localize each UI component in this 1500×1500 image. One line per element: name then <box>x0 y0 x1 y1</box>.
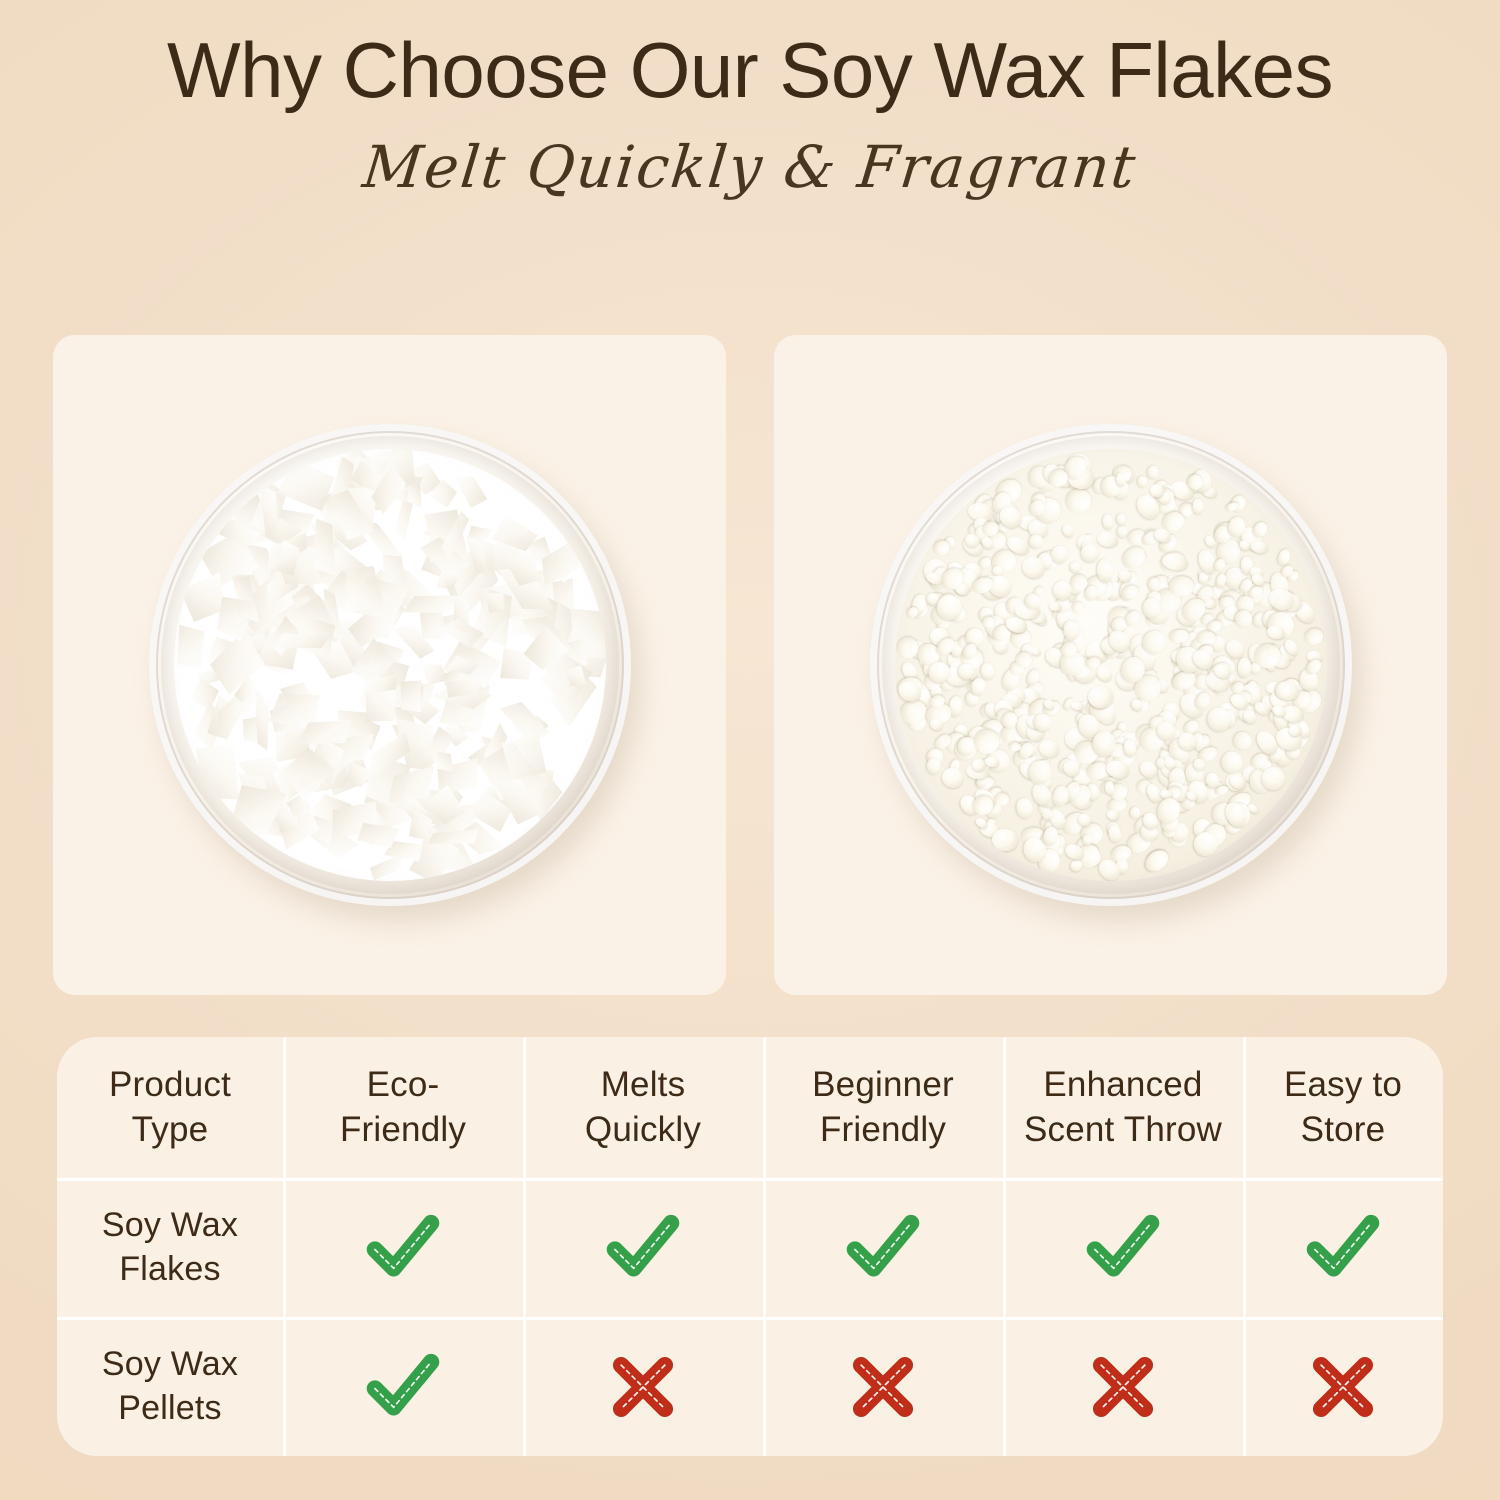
page-subtitle: Melt Quickly & Fragrant <box>0 138 1500 196</box>
wax-pellet-shape <box>1250 539 1269 554</box>
wax-pellet-shape <box>1119 543 1150 572</box>
table-row: Soy Wax Flakes <box>57 1178 1443 1317</box>
green-check-icon <box>604 1209 682 1287</box>
wax-flake-shape <box>449 467 489 510</box>
photo-card-pellets <box>774 335 1447 995</box>
wax-pellet-shape <box>1088 686 1113 708</box>
table-header-cell-melts-quickly: Melts Quickly <box>523 1037 763 1178</box>
table-header-row: Product Type Eco- Friendly Melts Quickly… <box>57 1037 1443 1178</box>
red-cross-icon <box>604 1348 682 1426</box>
product-photo-row <box>53 335 1447 995</box>
row-label-cell: Soy Wax Flakes <box>57 1178 283 1317</box>
cell-pellets-melts-quickly <box>523 1317 763 1456</box>
cell-pellets-beginner-friendly <box>763 1317 1003 1456</box>
header-label: Beginner Friendly <box>812 1063 954 1153</box>
cell-flakes-melts-quickly <box>523 1178 763 1317</box>
cell-flakes-eco-friendly <box>283 1178 523 1317</box>
wax-pellet-shape <box>1116 513 1127 527</box>
wax-pellet-shape <box>1060 523 1076 540</box>
wax-pellet-shape <box>1156 757 1164 768</box>
wax-pellet-shape <box>1289 724 1301 736</box>
green-check-icon <box>364 1348 442 1426</box>
wax-pellet-shape <box>1148 465 1159 479</box>
infographic-page: Why Choose Our Soy Wax Flakes Melt Quick… <box>0 0 1500 1500</box>
wax-pellet-shape <box>1028 760 1051 784</box>
table-header-cell-product-type: Product Type <box>57 1037 283 1178</box>
cell-flakes-enhanced-scent-throw <box>1003 1178 1243 1317</box>
header-label: Product Type <box>109 1063 231 1153</box>
photo-card-flakes <box>53 335 726 995</box>
wax-pellet-shape <box>1304 627 1326 647</box>
wax-pellet-shape <box>938 764 966 792</box>
table-header-cell-enhanced-scent-throw: Enhanced Scent Throw <box>1003 1037 1243 1178</box>
wax-pellet-shape <box>1082 834 1093 846</box>
glass-bowl-pellets-icon <box>870 424 1352 906</box>
wax-pellet-shape <box>1102 514 1114 531</box>
header-label: Eco- Friendly <box>340 1063 466 1153</box>
wax-pellet-shape <box>1231 729 1255 753</box>
header-label: Easy to Store <box>1284 1063 1402 1153</box>
comparison-table: Product Type Eco- Friendly Melts Quickly… <box>57 1037 1443 1456</box>
green-check-icon <box>1304 1209 1382 1287</box>
row-label: Soy Wax Flakes <box>102 1204 238 1291</box>
wax-flake-shape <box>174 623 207 672</box>
row-label-cell: Soy Wax Pellets <box>57 1317 283 1456</box>
wax-pellet-shape <box>1237 657 1251 678</box>
cell-pellets-eco-friendly <box>283 1317 523 1456</box>
red-cross-icon <box>1304 1348 1382 1426</box>
wax-pellet-shape <box>1276 547 1292 566</box>
cell-flakes-easy-to-store <box>1243 1178 1443 1317</box>
header-label: Melts Quickly <box>585 1063 701 1153</box>
table-header-cell-beginner-friendly: Beginner Friendly <box>763 1037 1003 1178</box>
wax-pellet-shape <box>1220 750 1243 774</box>
wax-pellet-shape <box>1014 797 1034 821</box>
table-header-cell-easy-to-store: Easy to Store <box>1243 1037 1443 1178</box>
cell-pellets-easy-to-store <box>1243 1317 1443 1456</box>
wax-pellet-shape <box>1138 476 1148 487</box>
wax-pellet-shape <box>1062 485 1095 518</box>
header-label: Enhanced Scent Throw <box>1024 1063 1222 1153</box>
row-label: Soy Wax Pellets <box>102 1343 238 1430</box>
green-check-icon <box>844 1209 922 1287</box>
green-check-icon <box>364 1209 442 1287</box>
wax-pellet-shape <box>1037 738 1060 760</box>
wax-pellet-shape <box>1141 846 1172 876</box>
glass-bowl-flakes-icon <box>149 424 631 906</box>
soy-wax-flakes-contents <box>174 449 606 881</box>
page-title: Why Choose Our Soy Wax Flakes <box>0 28 1500 112</box>
red-cross-icon <box>1084 1348 1162 1426</box>
red-cross-icon <box>844 1348 922 1426</box>
wax-pellet-shape <box>1096 530 1119 548</box>
wax-pellet-shape <box>994 793 1009 806</box>
wax-pellet-shape <box>971 758 985 771</box>
cell-flakes-beginner-friendly <box>763 1178 1003 1317</box>
cell-pellets-enhanced-scent-throw <box>1003 1317 1243 1456</box>
table-header-cell-eco-friendly: Eco- Friendly <box>283 1037 523 1178</box>
green-check-icon <box>1084 1209 1162 1287</box>
header: Why Choose Our Soy Wax Flakes Melt Quick… <box>0 28 1500 196</box>
wax-pellet-shape <box>1068 560 1083 575</box>
table-row: Soy Wax Pellets <box>57 1317 1443 1456</box>
soy-wax-pellets-contents <box>895 449 1327 881</box>
